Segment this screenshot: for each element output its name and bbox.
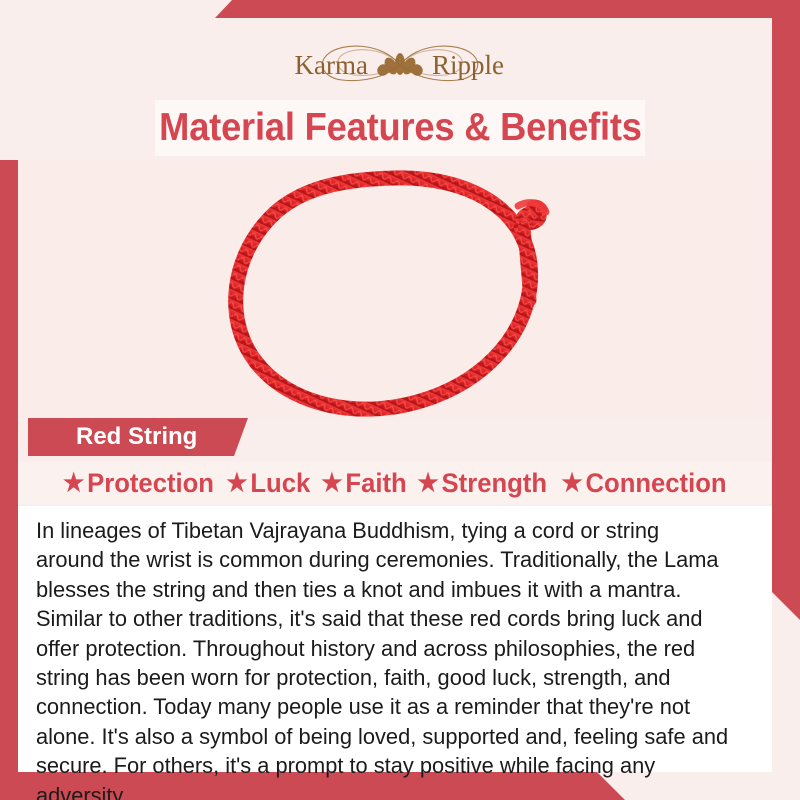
- description-text: In lineages of Tibetan Vajrayana Buddhis…: [36, 516, 729, 800]
- feature-item-connection: ★ Connection: [561, 468, 726, 499]
- feature-item-protection: ★ Protection: [63, 468, 214, 499]
- feature-label: Strength: [442, 468, 547, 499]
- feature-label: Connection: [585, 468, 726, 499]
- cord-tail: [524, 228, 530, 300]
- page-title-band: Material Features & Benefits: [155, 100, 645, 156]
- star-icon: ★: [561, 471, 582, 496]
- feature-label: Luck: [250, 468, 310, 499]
- description-panel: In lineages of Tibetan Vajrayana Buddhis…: [18, 506, 772, 772]
- feature-item-faith: ★ Faith: [321, 468, 406, 499]
- feature-item-luck: ★ Luck: [226, 468, 310, 499]
- star-icon: ★: [418, 471, 439, 496]
- material-tag-banner: Red String: [28, 418, 248, 456]
- logo-word-right: Ripple: [432, 50, 504, 80]
- feature-item-strength: ★ Strength: [418, 468, 548, 499]
- decor-left-strip: [0, 160, 18, 800]
- page-title: Material Features & Benefits: [159, 106, 642, 150]
- features-list: ★ Protection ★ Luck ★ Faith ★ Strength ★…: [18, 462, 772, 504]
- decor-top-band: [215, 0, 800, 18]
- product-image: [18, 160, 772, 418]
- brand-logo: Karma Ripple: [0, 34, 800, 96]
- cord-loop: [236, 178, 531, 409]
- material-tag-label: Red String: [76, 423, 197, 451]
- red-string-bracelet-icon: [18, 160, 772, 418]
- karma-ripple-logo-svg: Karma Ripple: [250, 34, 550, 96]
- infographic-poster: Karma Ripple Material Features & Benefit…: [0, 0, 800, 800]
- logo-word-left: Karma: [295, 50, 368, 80]
- star-icon: ★: [226, 471, 247, 496]
- feature-label: Protection: [87, 468, 214, 499]
- star-icon: ★: [321, 471, 342, 496]
- star-icon: ★: [63, 471, 84, 496]
- feature-label: Faith: [345, 468, 406, 499]
